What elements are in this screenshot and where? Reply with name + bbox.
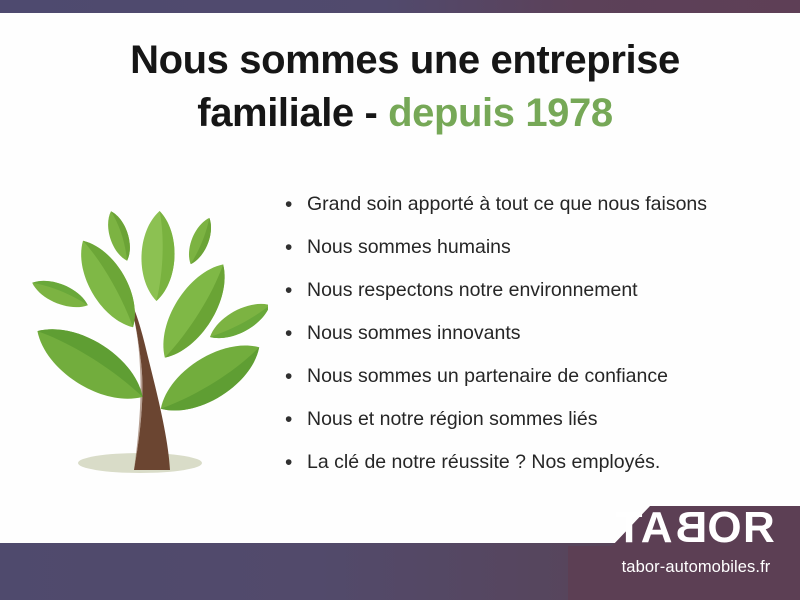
headline-line-1: Nous sommes une entreprise (60, 34, 750, 87)
list-item: • Nous sommes innovants (285, 321, 775, 364)
bullet-dot-icon: • (285, 450, 307, 475)
tree-leaf-icon (29, 274, 92, 315)
value-bullet-list: • Grand soin apporté à tout ce que nous … (285, 192, 775, 493)
headline-line-2-accent: depuis 1978 (388, 91, 613, 135)
page-title: Nous sommes une entreprise familiale - d… (60, 34, 750, 140)
list-item: • Grand soin apporté à tout ce que nous … (285, 192, 775, 235)
headline-line-2-plain: familiale - (197, 91, 388, 135)
logo-website-url: tabor-automobiles.fr (596, 559, 796, 576)
bullet-dot-icon: • (285, 278, 307, 303)
slide-canvas: Nous sommes une entreprise familiale - d… (0, 0, 800, 600)
logo-wordmark-part-2: B (674, 506, 707, 550)
list-item-label: Nous sommes humains (307, 235, 511, 260)
list-item: • La clé de notre réussite ? Nos employé… (285, 450, 775, 493)
bullet-dot-icon: • (285, 235, 307, 260)
tree-leaf-icon (25, 312, 154, 416)
logo-wordmark: TABOR (596, 506, 796, 550)
headline-line-2: familiale - depuis 1978 (60, 87, 750, 140)
list-item-label: Nous et notre région sommes liés (307, 407, 597, 432)
tree-leaf-icon (140, 210, 176, 301)
list-item-label: La clé de notre réussite ? Nos employés. (307, 450, 660, 475)
top-accent-bar (0, 0, 800, 13)
list-item: • Nous respectons notre environnement (285, 278, 775, 321)
list-item-label: Nous respectons notre environnement (307, 278, 638, 303)
bullet-dot-icon: • (285, 407, 307, 432)
list-item-label: Nous sommes un partenaire de confiance (307, 364, 668, 389)
tree-leaf-icon (183, 215, 217, 268)
bullet-dot-icon: • (285, 192, 307, 217)
list-item: • Nous sommes humains (285, 235, 775, 278)
tree-illustration (18, 196, 268, 481)
list-item: • Nous sommes un partenaire de confiance (285, 364, 775, 407)
bullet-dot-icon: • (285, 321, 307, 346)
list-item-label: Nous sommes innovants (307, 321, 521, 346)
bullet-dot-icon: • (285, 364, 307, 389)
logo-wordmark-part-3: OR (707, 503, 776, 552)
list-item-label: Grand soin apporté à tout ce que nous fa… (307, 192, 707, 217)
logo-wordmark-part-1: TA (616, 503, 674, 552)
list-item: • Nous et notre région sommes liés (285, 407, 775, 450)
